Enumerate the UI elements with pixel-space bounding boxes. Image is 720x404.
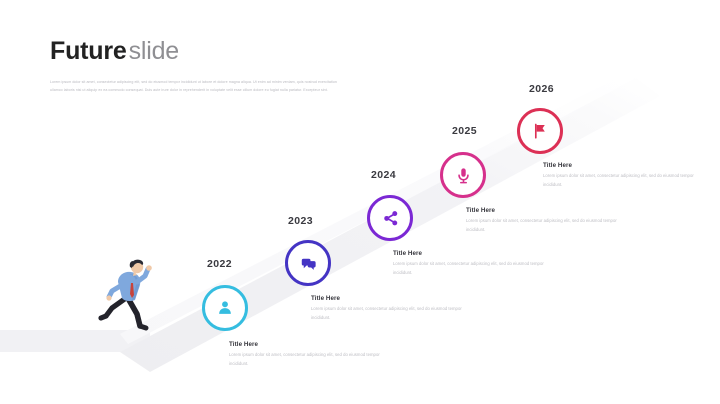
chat-bubbles-icon [299,254,318,273]
caption-title: Title Here [311,295,473,302]
caption-title: Title Here [393,250,555,257]
caption-body: Lorem ipsum dolor sit amet, consectetur … [229,351,391,368]
caption-title: Title Here [466,207,628,214]
title-light: slide [129,37,179,65]
flag-icon [531,122,549,140]
milestone-caption-2023: Title Here Lorem ipsum dolor sit amet, c… [311,295,473,322]
running-businessman-illustration [96,258,168,334]
milestone-node-2022[interactable] [202,285,248,331]
milestone-caption-2025: Title Here Lorem ipsum dolor sit amet, c… [466,207,628,234]
milestone-caption-2026: Title Here Lorem ipsum dolor sit amet, c… [543,162,705,189]
milestone-node-2024[interactable] [367,195,413,241]
milestone-year-2026: 2026 [529,83,554,95]
milestone-caption-2024: Title Here Lorem ipsum dolor sit amet, c… [393,250,555,277]
slide-header: Futureslide Lorem ipsum dolor sit amet, … [50,38,470,94]
milestone-node-2025[interactable] [440,152,486,198]
milestone-node-2026[interactable] [517,108,563,154]
milestone-year-2022: 2022 [207,258,232,270]
slide-canvas: Futureslide Lorem ipsum dolor sit amet, … [0,0,720,404]
share-network-icon [381,209,400,228]
title-strong: Future [50,37,127,65]
milestone-year-2024: 2024 [371,169,396,181]
caption-body: Lorem ipsum dolor sit amet, consectetur … [393,260,555,277]
milestone-year-2023: 2023 [288,215,313,227]
page-title: Futureslide [50,38,470,66]
microphone-icon [454,166,473,185]
milestone-caption-2022: Title Here Lorem ipsum dolor sit amet, c… [229,341,391,368]
caption-title: Title Here [229,341,391,348]
milestone-year-2025: 2025 [452,125,477,137]
caption-title: Title Here [543,162,705,169]
user-icon [215,298,235,318]
milestone-node-2023[interactable] [285,240,331,286]
caption-body: Lorem ipsum dolor sit amet, consectetur … [311,305,473,322]
caption-body: Lorem ipsum dolor sit amet, consectetur … [466,217,628,234]
caption-body: Lorem ipsum dolor sit amet, consectetur … [543,172,705,189]
intro-paragraph: Lorem ipsum dolor sit amet, consectetur … [50,78,350,95]
